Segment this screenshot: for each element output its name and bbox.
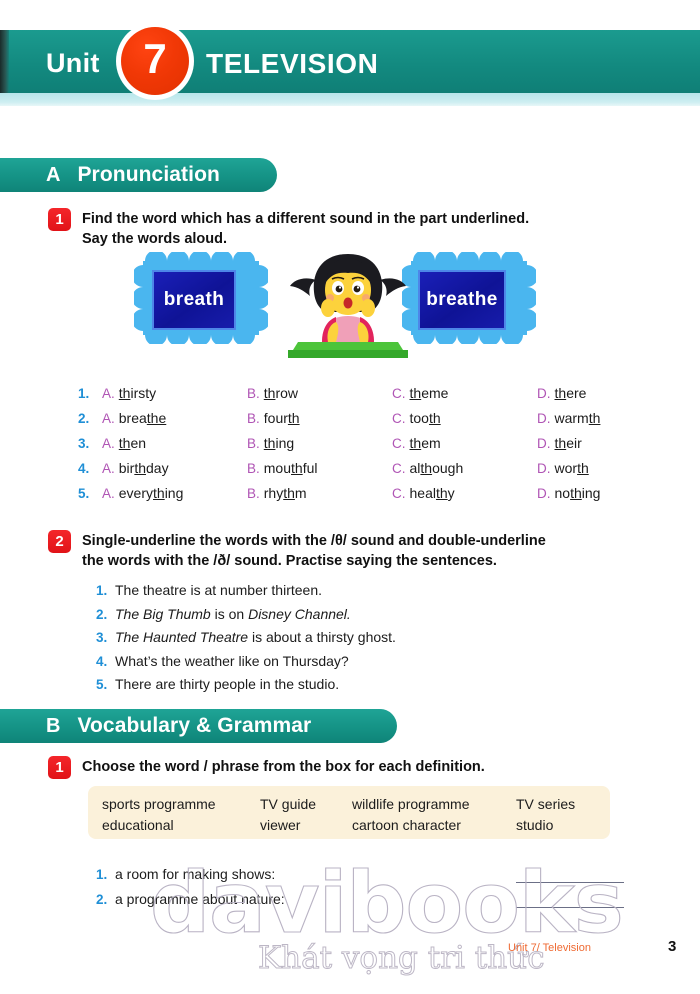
unit-number-badge: 7 xyxy=(116,22,194,100)
word-bank-item[interactable]: sports programme xyxy=(102,796,216,812)
word-bank-item[interactable]: studio xyxy=(516,817,553,833)
exercise-badge-b1: 1 xyxy=(48,756,71,779)
word-cards-row: breath breathe xyxy=(0,252,700,370)
answer-line-1[interactable] xyxy=(516,882,624,883)
option-word: theme xyxy=(410,385,449,401)
sentence-row: 4.What’s the weather like on Thursday? xyxy=(96,653,396,677)
option-letter: C. xyxy=(392,411,406,426)
footer-unit-reference: Unit 7/ Television xyxy=(508,942,591,954)
option-choice[interactable]: D.their xyxy=(537,435,689,451)
unit-header-left-shadow xyxy=(0,30,9,93)
programme-title: Disney Channel. xyxy=(248,606,351,622)
option-row-number: 2. xyxy=(78,411,102,426)
option-letter: A. xyxy=(102,486,115,501)
option-letter: C. xyxy=(392,461,406,476)
underlined-sound: th xyxy=(570,485,582,501)
option-letter: A. xyxy=(102,461,115,476)
textbook-page: Unit 7 TELEVISION A Pronunciation 1 Find… xyxy=(0,0,700,994)
section-title-b: Vocabulary & Grammar xyxy=(77,714,311,738)
sentence-text[interactable]: The Haunted Theatre is about a thirsty g… xyxy=(115,629,396,645)
underlined-sound: th xyxy=(134,460,146,476)
underlined-sound: th xyxy=(555,435,567,451)
underlined-sound: the xyxy=(147,410,166,426)
sentence-row: 3.The Haunted Theatre is about a thirsty… xyxy=(96,629,396,653)
option-word: rhythm xyxy=(264,485,307,501)
sentence-row: 1.The theatre is at number thirteen. xyxy=(96,582,396,606)
unit-title: TELEVISION xyxy=(206,48,378,80)
option-letter: B. xyxy=(247,436,260,451)
underlined-sound: th xyxy=(429,410,441,426)
option-letter: B. xyxy=(247,461,260,476)
option-word: tooth xyxy=(410,410,441,426)
section-header-vocabulary-grammar: B Vocabulary & Grammar xyxy=(0,709,397,743)
option-choice[interactable]: A.thirsty xyxy=(102,385,247,401)
option-letter: B. xyxy=(247,411,260,426)
exercise-prompt-a1-line1: Find the word which has a different soun… xyxy=(82,211,529,227)
underlined-sound: th xyxy=(264,435,276,451)
option-word: their xyxy=(555,435,582,451)
option-letter: A. xyxy=(102,411,115,426)
option-letter: D. xyxy=(537,411,551,426)
sentence-part: The theatre is at number thirteen. xyxy=(115,582,322,598)
underlined-sound: th xyxy=(283,485,295,501)
word-bank-item[interactable]: wildlife programme xyxy=(352,796,469,812)
programme-title: The Haunted Theatre xyxy=(115,629,248,645)
option-row: 3.A.thenB.thingC.themD.their xyxy=(78,435,690,460)
option-choice[interactable]: D.nothing xyxy=(537,485,689,501)
option-letter: C. xyxy=(392,386,406,401)
option-letter: C. xyxy=(392,436,406,451)
option-letter: D. xyxy=(537,486,551,501)
word-card-breathe: breathe xyxy=(418,270,506,330)
option-choice[interactable]: A.then xyxy=(102,435,247,451)
sentence-text[interactable]: The Big Thumb is on Disney Channel. xyxy=(115,606,351,622)
option-row: 4.A.birthdayB.mouthfulC.althoughD.worth xyxy=(78,460,690,485)
underlined-sound: th xyxy=(119,385,131,401)
underlined-sound: th xyxy=(291,460,303,476)
underlined-sound: th xyxy=(420,460,432,476)
definition-row: 2.a programme about nature: xyxy=(96,891,285,916)
option-word: then xyxy=(119,435,146,451)
definition-number: 1. xyxy=(96,867,115,882)
underlined-sound: th xyxy=(555,385,567,401)
word-card-breathe-text: breathe xyxy=(426,289,497,311)
option-letter: A. xyxy=(102,436,115,451)
option-choice[interactable]: A.birthday xyxy=(102,460,247,476)
sentence-number: 4. xyxy=(96,654,115,669)
option-choice[interactable]: C.although xyxy=(392,460,537,476)
option-word: although xyxy=(410,460,464,476)
option-word: thirsty xyxy=(119,385,156,401)
option-choice[interactable]: C.healthy xyxy=(392,485,537,501)
option-letter: D. xyxy=(537,461,551,476)
option-choice[interactable]: D.worth xyxy=(537,460,689,476)
definition-number: 2. xyxy=(96,892,115,907)
option-word: breathe xyxy=(119,410,167,426)
sentence-text[interactable]: What’s the weather like on Thursday? xyxy=(115,653,349,669)
option-row-number: 4. xyxy=(78,461,102,476)
option-row: 2.A.breatheB.fourthC.toothD.warmth xyxy=(78,410,690,435)
option-row-number: 1. xyxy=(78,386,102,401)
definition-text: a room for making shows: xyxy=(115,866,275,882)
option-choice[interactable]: D.there xyxy=(537,385,689,401)
section-title-a: Pronunciation xyxy=(77,163,219,187)
option-choice[interactable]: B.mouthful xyxy=(247,460,392,476)
sentence-part: What’s the weather like on Thursday? xyxy=(115,653,349,669)
option-choice[interactable]: B.fourth xyxy=(247,410,392,426)
option-word: nothing xyxy=(555,485,601,501)
exercise-prompt-a2: Single-underline the words with the /θ/ … xyxy=(82,531,662,571)
option-word: worth xyxy=(555,460,589,476)
watermark-sub-text: Khát vọng tri thức xyxy=(258,943,545,974)
underlined-sound: th xyxy=(119,435,131,451)
option-row-number: 5. xyxy=(78,486,102,501)
underlined-sound: th xyxy=(436,485,448,501)
exercise-prompt-b1: Choose the word / phrase from the box fo… xyxy=(82,757,662,777)
option-word: warmth xyxy=(555,410,601,426)
option-choice[interactable]: C.theme xyxy=(392,385,537,401)
section-letter-b: B xyxy=(46,715,60,738)
option-letter: D. xyxy=(537,386,551,401)
exercise-prompt-a2-line1: Single-underline the words with the /θ/ … xyxy=(82,533,546,549)
option-word: thing xyxy=(264,435,294,451)
option-letter: B. xyxy=(247,386,260,401)
unit-number-text: 7 xyxy=(143,38,166,80)
option-letter: C. xyxy=(392,486,406,501)
option-word: throw xyxy=(264,385,298,401)
underlined-sound: th xyxy=(410,435,422,451)
option-choice[interactable]: C.tooth xyxy=(392,410,537,426)
option-word: birthday xyxy=(119,460,169,476)
exercise-badge-a2: 2 xyxy=(48,530,71,553)
word-bank-item[interactable]: cartoon character xyxy=(352,817,461,833)
footer-page-number: 3 xyxy=(668,938,676,955)
word-card-breath: breath xyxy=(152,270,236,330)
option-choice[interactable]: A.breathe xyxy=(102,410,247,426)
sentence-number: 1. xyxy=(96,583,115,598)
definition-row: 1.a room for making shows: xyxy=(96,866,285,891)
definition-text: a programme about nature: xyxy=(115,891,285,907)
unit-number-circle: 7 xyxy=(121,27,189,95)
word-card-breath-text: breath xyxy=(164,289,224,311)
underlined-sound: th xyxy=(288,410,300,426)
option-word: healthy xyxy=(410,485,455,501)
thinking-girl-illustration xyxy=(288,246,408,358)
exercise-badge-a1: 1 xyxy=(48,208,71,231)
option-word: them xyxy=(410,435,441,451)
word-bank-item[interactable]: educational xyxy=(102,817,174,833)
underlined-sound: th xyxy=(264,385,276,401)
option-word: fourth xyxy=(264,410,300,426)
sentence-part: is on xyxy=(211,606,248,622)
option-letter: A. xyxy=(102,386,115,401)
option-choice[interactable]: B.thing xyxy=(247,435,392,451)
sentence-part: There are thirty people in the studio. xyxy=(115,676,339,692)
unit-header-light-band xyxy=(0,93,700,106)
word-bank-box: sports programmeTV guidewildlife program… xyxy=(88,786,610,839)
option-choice[interactable]: A.everything xyxy=(102,485,247,501)
sentence-text[interactable]: There are thirty people in the studio. xyxy=(115,676,339,692)
underlined-sound: th xyxy=(153,485,165,501)
sentence-number: 2. xyxy=(96,607,115,622)
sentence-list-a2: 1.The theatre is at number thirteen.2.Th… xyxy=(96,582,396,700)
option-row: 1.A.thirstyB.throwC.themeD.there xyxy=(78,385,690,410)
word-bank-item[interactable]: viewer xyxy=(260,817,300,833)
option-row: 5.A.everythingB.rhythmC.healthyD.nothing xyxy=(78,485,690,510)
exercise-prompt-a1: Find the word which has a different soun… xyxy=(82,209,662,249)
option-letter: B. xyxy=(247,486,260,501)
sentence-text[interactable]: The theatre is at number thirteen. xyxy=(115,582,322,598)
option-word: everything xyxy=(119,485,184,501)
unit-label: Unit xyxy=(46,48,100,79)
option-choice[interactable]: B.rhythm xyxy=(247,485,392,501)
sentence-part: is about a thirsty ghost. xyxy=(248,629,396,645)
underlined-sound: th xyxy=(410,385,422,401)
sentence-number: 5. xyxy=(96,677,115,692)
answer-line-2[interactable] xyxy=(516,907,624,908)
option-row-number: 3. xyxy=(78,436,102,451)
option-word: there xyxy=(555,385,587,401)
word-bank-item[interactable]: TV series xyxy=(516,796,575,812)
underlined-sound: th xyxy=(577,460,589,476)
option-word: mouthful xyxy=(264,460,318,476)
programme-title: The Big Thumb xyxy=(115,606,211,622)
word-bank-item[interactable]: TV guide xyxy=(260,796,316,812)
option-letter: D. xyxy=(537,436,551,451)
option-choice[interactable]: C.them xyxy=(392,435,537,451)
sentence-row: 2.The Big Thumb is on Disney Channel. xyxy=(96,606,396,630)
section-letter-a: A xyxy=(46,164,60,187)
underlined-sound: th xyxy=(589,410,601,426)
option-choice[interactable]: B.throw xyxy=(247,385,392,401)
options-grid-a1: 1.A.thirstyB.throwC.themeD.there2.A.brea… xyxy=(78,385,690,510)
section-header-pronunciation: A Pronunciation xyxy=(0,158,277,192)
exercise-prompt-a1-line2: Say the words aloud. xyxy=(82,231,227,247)
option-choice[interactable]: D.warmth xyxy=(537,410,689,426)
exercise-prompt-a2-line2: the words with the /ð/ sound. Practise s… xyxy=(82,553,497,569)
definition-list-b1: 1.a room for making shows:2.a programme … xyxy=(96,866,285,916)
sentence-row: 5.There are thirty people in the studio. xyxy=(96,676,396,700)
sentence-number: 3. xyxy=(96,630,115,645)
